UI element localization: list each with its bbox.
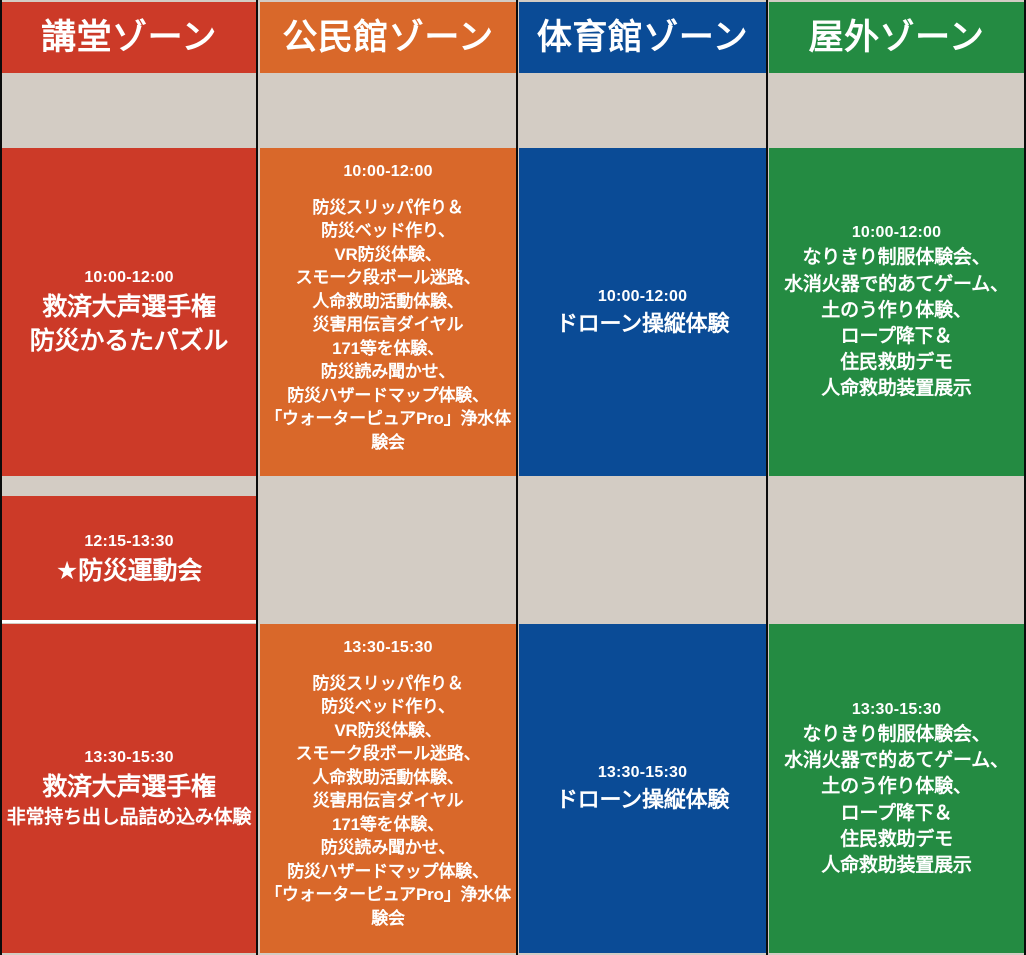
session-time: 10:00-12:00 bbox=[598, 285, 687, 309]
session-activities: なりきり制服体験会、 水消火器で的あてゲーム、 土のう作り体験、 ロープ降下＆ … bbox=[784, 245, 1009, 402]
midday-row-underline bbox=[2, 620, 256, 623]
activity-line: 災害用伝言ダイヤル bbox=[313, 313, 464, 336]
activity-line: 人命救助装置展示 bbox=[821, 853, 971, 879]
session-cell-morning-auditorium[interactable]: 10:00-12:00 救済大声選手権 防災かるたパズル bbox=[2, 148, 256, 476]
activity-line: 人命救助活動体験、 bbox=[312, 766, 463, 789]
activity-line: なりきり制服体験会、 bbox=[802, 722, 990, 748]
session-cell-afternoon-outdoor[interactable]: 13:30-15:30 なりきり制服体験会、 水消火器で的あてゲーム、 土のう作… bbox=[769, 624, 1024, 953]
activity-line: スモーク段ボール迷路、 bbox=[296, 742, 481, 765]
activity-line: 防災スリッパ作り＆ bbox=[312, 196, 463, 219]
session-cell-morning-gym[interactable]: 10:00-12:00 ドローン操縦体験 bbox=[519, 148, 766, 476]
activity-line: ドローン操縦体験 bbox=[556, 309, 729, 339]
session-activities: ★防災運動会 bbox=[56, 554, 202, 589]
activity-line: ロープ降下＆ bbox=[841, 801, 953, 827]
session-time: 13:30-15:30 bbox=[84, 746, 173, 770]
session-activities: 防災スリッパ作り＆ 防災ベッド作り、 VR防災体験、 スモーク段ボール迷路、 人… bbox=[260, 672, 516, 930]
activity-line: 水消火器で的あてゲーム、 bbox=[784, 272, 1009, 298]
session-activities: 救済大声選手権 非常持ち出し品詰め込み体験 bbox=[7, 770, 251, 831]
session-time: 13:30-15:30 bbox=[852, 698, 941, 722]
session-cell-morning-outdoor[interactable]: 10:00-12:00 なりきり制服体験会、 水消火器で的あてゲーム、 土のう作… bbox=[769, 148, 1024, 476]
zone-header-label: 体育館ゾーン bbox=[537, 20, 748, 55]
activity-line: ロープ降下＆ bbox=[841, 324, 953, 350]
session-cell-midday-gym bbox=[519, 476, 766, 622]
activity-line: 防災ハザードマップ体験、 bbox=[287, 384, 489, 407]
zone-header-label: 公民館ゾーン bbox=[282, 20, 493, 55]
activity-line: 防災読み聞かせ、 bbox=[321, 360, 455, 383]
session-cell-midday-auditorium[interactable]: 12:15-13:30 ★防災運動会 bbox=[2, 496, 256, 622]
activity-line: 住民救助デモ bbox=[840, 350, 953, 376]
activity-line: 土のう作り体験、 bbox=[821, 298, 971, 324]
session-time: 10:00-12:00 bbox=[852, 221, 941, 245]
zone-header-label: 屋外ゾーン bbox=[809, 20, 985, 55]
zone-header-label: 講堂ゾーン bbox=[41, 20, 217, 55]
activity-line: 救済大声選手権 bbox=[42, 290, 216, 325]
session-cell-midday-community bbox=[260, 476, 516, 622]
schedule-board: 講堂ゾーン 公民館ゾーン 体育館ゾーン 屋外ゾーン 10:00-12:00 救済… bbox=[0, 0, 1026, 955]
activity-line: 水消火器で的あてゲーム、 bbox=[784, 748, 1009, 774]
activity-line: 防災ベッド作り、 bbox=[321, 695, 455, 718]
activity-line: ドローン操縦体験 bbox=[556, 785, 729, 815]
session-activities: ドローン操縦体験 bbox=[556, 309, 729, 339]
zone-header-gym: 体育館ゾーン bbox=[519, 2, 766, 73]
activity-line: 住民救助デモ bbox=[840, 827, 953, 853]
session-activities: ドローン操縦体験 bbox=[556, 785, 729, 815]
session-cell-midday-outdoor bbox=[769, 476, 1024, 622]
activity-line: 171等を体験、 bbox=[332, 337, 444, 360]
session-time: 13:30-15:30 bbox=[598, 761, 687, 785]
grid-divider-3 bbox=[766, 0, 768, 955]
session-activities: 防災スリッパ作り＆ 防災ベッド作り、 VR防災体験、 スモーク段ボール迷路、 人… bbox=[260, 196, 516, 454]
grid-divider-1 bbox=[256, 0, 258, 955]
activity-line: 防災かるたパズル bbox=[30, 324, 228, 359]
activity-line: 人命救助活動体験、 bbox=[312, 290, 463, 313]
activity-line: 人命救助装置展示 bbox=[821, 376, 971, 402]
session-time: 13:30-15:30 bbox=[343, 636, 432, 660]
session-cell-morning-community[interactable]: 10:00-12:00 防災スリッパ作り＆ 防災ベッド作り、 VR防災体験、 ス… bbox=[260, 148, 516, 476]
session-time: 10:00-12:00 bbox=[343, 160, 432, 184]
activity-line: 非常持ち出し品詰め込み体験 bbox=[7, 805, 251, 831]
activity-line: 土のう作り体験、 bbox=[821, 774, 971, 800]
session-cell-afternoon-gym[interactable]: 13:30-15:30 ドローン操縦体験 bbox=[519, 624, 766, 953]
activity-line: 防災スリッパ作り＆ bbox=[312, 672, 463, 695]
activity-line: VR防災体験、 bbox=[334, 719, 441, 742]
session-activities: 救済大声選手権 防災かるたパズル bbox=[30, 290, 228, 359]
activity-line: 「ウォーターピュアPro」浄水体験会 bbox=[260, 883, 516, 930]
session-cell-afternoon-community[interactable]: 13:30-15:30 防災スリッパ作り＆ 防災ベッド作り、 VR防災体験、 ス… bbox=[260, 624, 516, 953]
activity-line: 防災読み聞かせ、 bbox=[321, 836, 455, 859]
activity-line: 防災ベッド作り、 bbox=[321, 219, 455, 242]
activity-line: なりきり制服体験会、 bbox=[802, 245, 990, 271]
session-time: 12:15-13:30 bbox=[84, 530, 173, 554]
session-time: 10:00-12:00 bbox=[84, 266, 173, 290]
grid-edge-left bbox=[0, 0, 2, 955]
activity-line: 「ウォーターピュアPro」浄水体験会 bbox=[260, 407, 516, 454]
grid-divider-2 bbox=[516, 0, 518, 955]
activity-line: スモーク段ボール迷路、 bbox=[296, 266, 481, 289]
activity-line: 救済大声選手権 bbox=[42, 770, 216, 805]
activity-line: ★防災運動会 bbox=[56, 554, 202, 589]
zone-header-auditorium: 講堂ゾーン bbox=[2, 2, 256, 73]
zone-header-outdoor: 屋外ゾーン bbox=[769, 2, 1024, 73]
session-cell-afternoon-auditorium[interactable]: 13:30-15:30 救済大声選手権 非常持ち出し品詰め込み体験 bbox=[2, 624, 256, 953]
zone-header-community: 公民館ゾーン bbox=[260, 2, 516, 73]
activity-line: 災害用伝言ダイヤル bbox=[313, 789, 464, 812]
session-activities: なりきり制服体験会、 水消火器で的あてゲーム、 土のう作り体験、 ロープ降下＆ … bbox=[784, 722, 1009, 879]
activity-line: 防災ハザードマップ体験、 bbox=[287, 860, 489, 883]
activity-line: 171等を体験、 bbox=[332, 813, 444, 836]
activity-line: VR防災体験、 bbox=[334, 243, 441, 266]
